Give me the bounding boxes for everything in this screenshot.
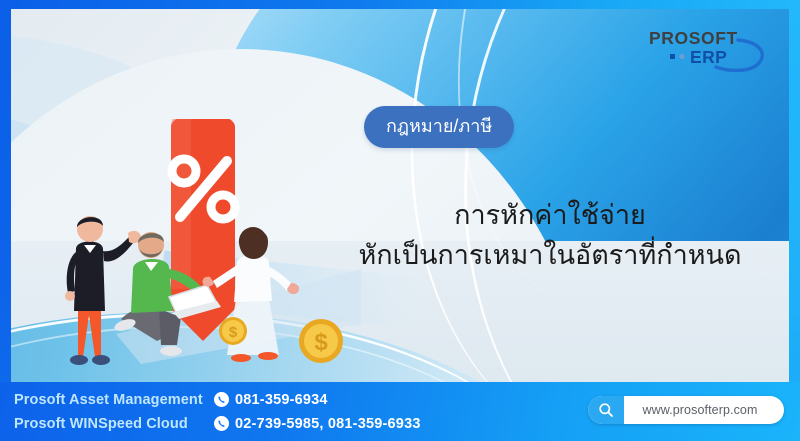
prosoft-erp-logo: PROSOFT ERP: [646, 22, 771, 76]
logo-word-erp: ERP: [690, 47, 727, 67]
contact-phone-group: 02-739-5985, 081-359-6933: [214, 416, 421, 432]
website-url-text: www.prosofterp.com: [624, 403, 784, 417]
promo-banner: $ $ PROSOFT ERP กฎหมาย/ภาษี การหักค่า: [0, 0, 800, 441]
headline-line-2: หักเป็นการเหมาในอัตราที่กำหนด: [330, 236, 770, 276]
headline-line-1: การหักค่าใช้จ่าย: [330, 196, 770, 236]
phone-icon: [214, 416, 229, 431]
contact-phone-number: 081-359-6934: [235, 392, 328, 408]
phone-icon: [214, 392, 229, 407]
coin-big-symbol: $: [314, 329, 328, 356]
footer-contact-list: Prosoft Asset Management 081-359-6934 Pr…: [14, 389, 421, 434]
contact-brand: Prosoft Asset Management: [14, 392, 214, 408]
contact-row: Prosoft Asset Management 081-359-6934: [14, 389, 421, 410]
logo-word-prosoft: PROSOFT: [649, 28, 738, 48]
coin-small: $: [219, 317, 247, 345]
frame-border-right: [789, 0, 800, 441]
contact-row: Prosoft WINSpeed Cloud 02-739-5985, 081-…: [14, 413, 421, 434]
coin-big: $: [299, 319, 343, 363]
frame-border-left: [0, 0, 11, 441]
website-search-pill[interactable]: www.prosofterp.com: [588, 396, 784, 424]
contact-brand: Prosoft WINSpeed Cloud: [14, 416, 214, 432]
logo-round-dot: [679, 54, 684, 59]
frame-border-top: [0, 0, 800, 9]
category-badge[interactable]: กฎหมาย/ภาษี: [364, 106, 514, 148]
banner-canvas: $ $ PROSOFT ERP กฎหมาย/ภาษี การหักค่า: [11, 9, 789, 434]
logo-square-dot: [670, 54, 675, 59]
finance-illustration: $ $: [21, 119, 361, 379]
headline: การหักค่าใช้จ่าย หักเป็นการเหมาในอัตราที…: [330, 196, 770, 276]
footer-bar: Prosoft Asset Management 081-359-6934 Pr…: [0, 382, 800, 441]
coin-small-symbol: $: [229, 324, 238, 341]
category-badge-label: กฎหมาย/ภาษี: [386, 116, 492, 136]
contact-phone-group: 081-359-6934: [214, 392, 328, 408]
search-icon[interactable]: [588, 396, 624, 424]
contact-phone-number: 02-739-5985, 081-359-6933: [235, 416, 421, 432]
